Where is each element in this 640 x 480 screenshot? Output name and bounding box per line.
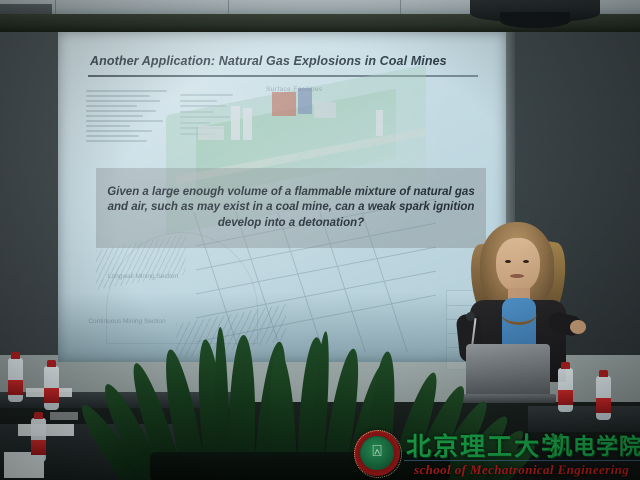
eye-left — [505, 260, 511, 263]
projection-screen: Another Application: Natural Gas Explosi… — [58, 32, 506, 362]
watermark-university-name: 北京理工大学 — [406, 432, 568, 462]
mouth — [510, 274, 524, 278]
face — [496, 238, 540, 292]
eye-right — [523, 260, 529, 263]
water-bottle — [31, 418, 46, 462]
paper-sheet — [18, 424, 74, 436]
watermark-school-name: 机电学院 — [550, 434, 640, 462]
ceiling-seam — [400, 0, 401, 14]
screenshot-root: Another Application: Natural Gas Explosi… — [0, 0, 640, 480]
projector-lens — [500, 12, 570, 28]
ceiling-seam — [228, 0, 229, 14]
hand-right — [570, 320, 586, 334]
left-wall — [0, 32, 60, 362]
watermark: ⍓ 北京理工大学 机电学院 school of Mechatronical En… — [352, 428, 640, 480]
water-bottle — [596, 376, 611, 420]
university-crest-icon: ⍓ — [354, 430, 400, 476]
watermark-english-name: school of Mechatronical Engineering — [414, 462, 629, 478]
ceiling-seam — [55, 0, 56, 14]
water-bottle — [558, 368, 573, 412]
water-bottle — [8, 358, 23, 402]
water-bottle — [44, 366, 59, 410]
remote-control — [50, 412, 78, 420]
